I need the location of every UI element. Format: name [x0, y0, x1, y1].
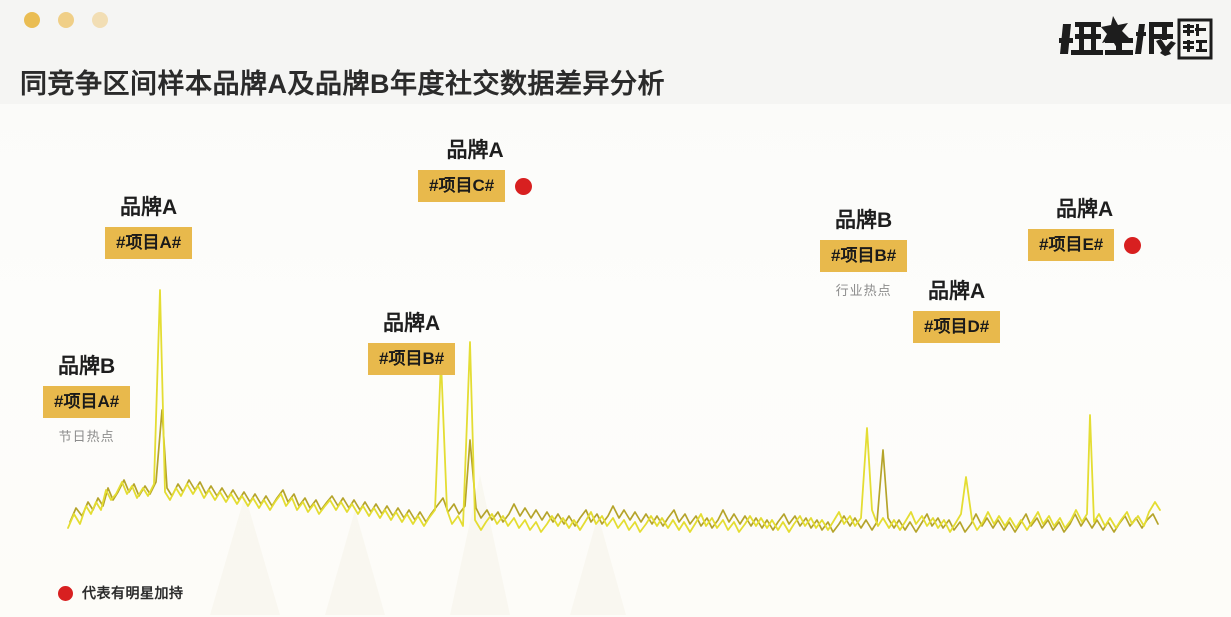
- slide-root: 同竞争区间样本品牌A及品牌B年度社交数据差异分析 品牌B #项目A# 节日热点 …: [0, 0, 1231, 617]
- annotation-badge-row: #项目A#: [43, 386, 130, 418]
- line-chart: [0, 110, 1231, 560]
- window-dot-2-icon: [58, 12, 74, 28]
- annotation-brand: 品牌A: [913, 280, 1000, 304]
- celebrity-marker-icon: [1124, 237, 1141, 254]
- annotation-brand: 品牌B: [43, 355, 130, 379]
- annotation-1: 品牌B #项目A# 节日热点: [43, 355, 130, 445]
- annotation-brand: 品牌A: [105, 196, 192, 220]
- jinjibo-caijing-logo: [1057, 8, 1213, 70]
- annotation-5: 品牌B #项目B# 行业热点: [820, 209, 907, 299]
- annotation-subtitle: 行业热点: [820, 280, 907, 299]
- series-brand-b-line: [70, 410, 1158, 532]
- window-dot-3-icon: [92, 12, 108, 28]
- annotation-project-badge[interactable]: #项目A#: [43, 386, 130, 418]
- annotation-badge-row: #项目A#: [105, 227, 192, 259]
- window-dots: [24, 12, 108, 28]
- window-dot-1-icon: [24, 12, 40, 28]
- annotation-badge-row: #项目B#: [368, 343, 455, 375]
- annotation-3: 品牌A #项目B#: [368, 312, 455, 375]
- annotation-project-badge[interactable]: #项目C#: [418, 170, 505, 202]
- annotation-project-badge[interactable]: #项目E#: [1028, 229, 1114, 261]
- annotation-project-badge[interactable]: #项目B#: [820, 240, 907, 272]
- annotation-subtitle: 节日热点: [43, 426, 130, 445]
- annotation-project-badge[interactable]: #项目A#: [105, 227, 192, 259]
- legend: 代表有明星加持: [58, 583, 184, 603]
- annotation-project-badge[interactable]: #项目B#: [368, 343, 455, 375]
- annotation-6: 品牌A #项目D#: [913, 280, 1000, 343]
- annotation-project-badge[interactable]: #项目D#: [913, 311, 1000, 343]
- annotation-2: 品牌A #项目A#: [105, 196, 192, 259]
- annotation-brand: 品牌A: [368, 312, 455, 336]
- annotation-4: 品牌A #项目C#: [418, 139, 532, 202]
- annotation-badge-row: #项目D#: [913, 311, 1000, 343]
- legend-label: 代表有明星加持: [82, 583, 184, 603]
- legend-marker-icon: [58, 586, 73, 601]
- annotation-7: 品牌A #项目E#: [1028, 198, 1141, 261]
- annotation-badge-row: #项目C#: [418, 170, 532, 202]
- annotation-brand: 品牌A: [1028, 198, 1141, 222]
- annotation-badge-row: #项目E#: [1028, 229, 1141, 261]
- chart-svg: [0, 110, 1231, 560]
- celebrity-marker-icon: [515, 178, 532, 195]
- annotation-brand: 品牌B: [820, 209, 907, 233]
- page-title: 同竞争区间样本品牌A及品牌B年度社交数据差异分析: [20, 62, 665, 101]
- annotation-brand: 品牌A: [418, 139, 532, 163]
- annotation-badge-row: #项目B#: [820, 240, 907, 272]
